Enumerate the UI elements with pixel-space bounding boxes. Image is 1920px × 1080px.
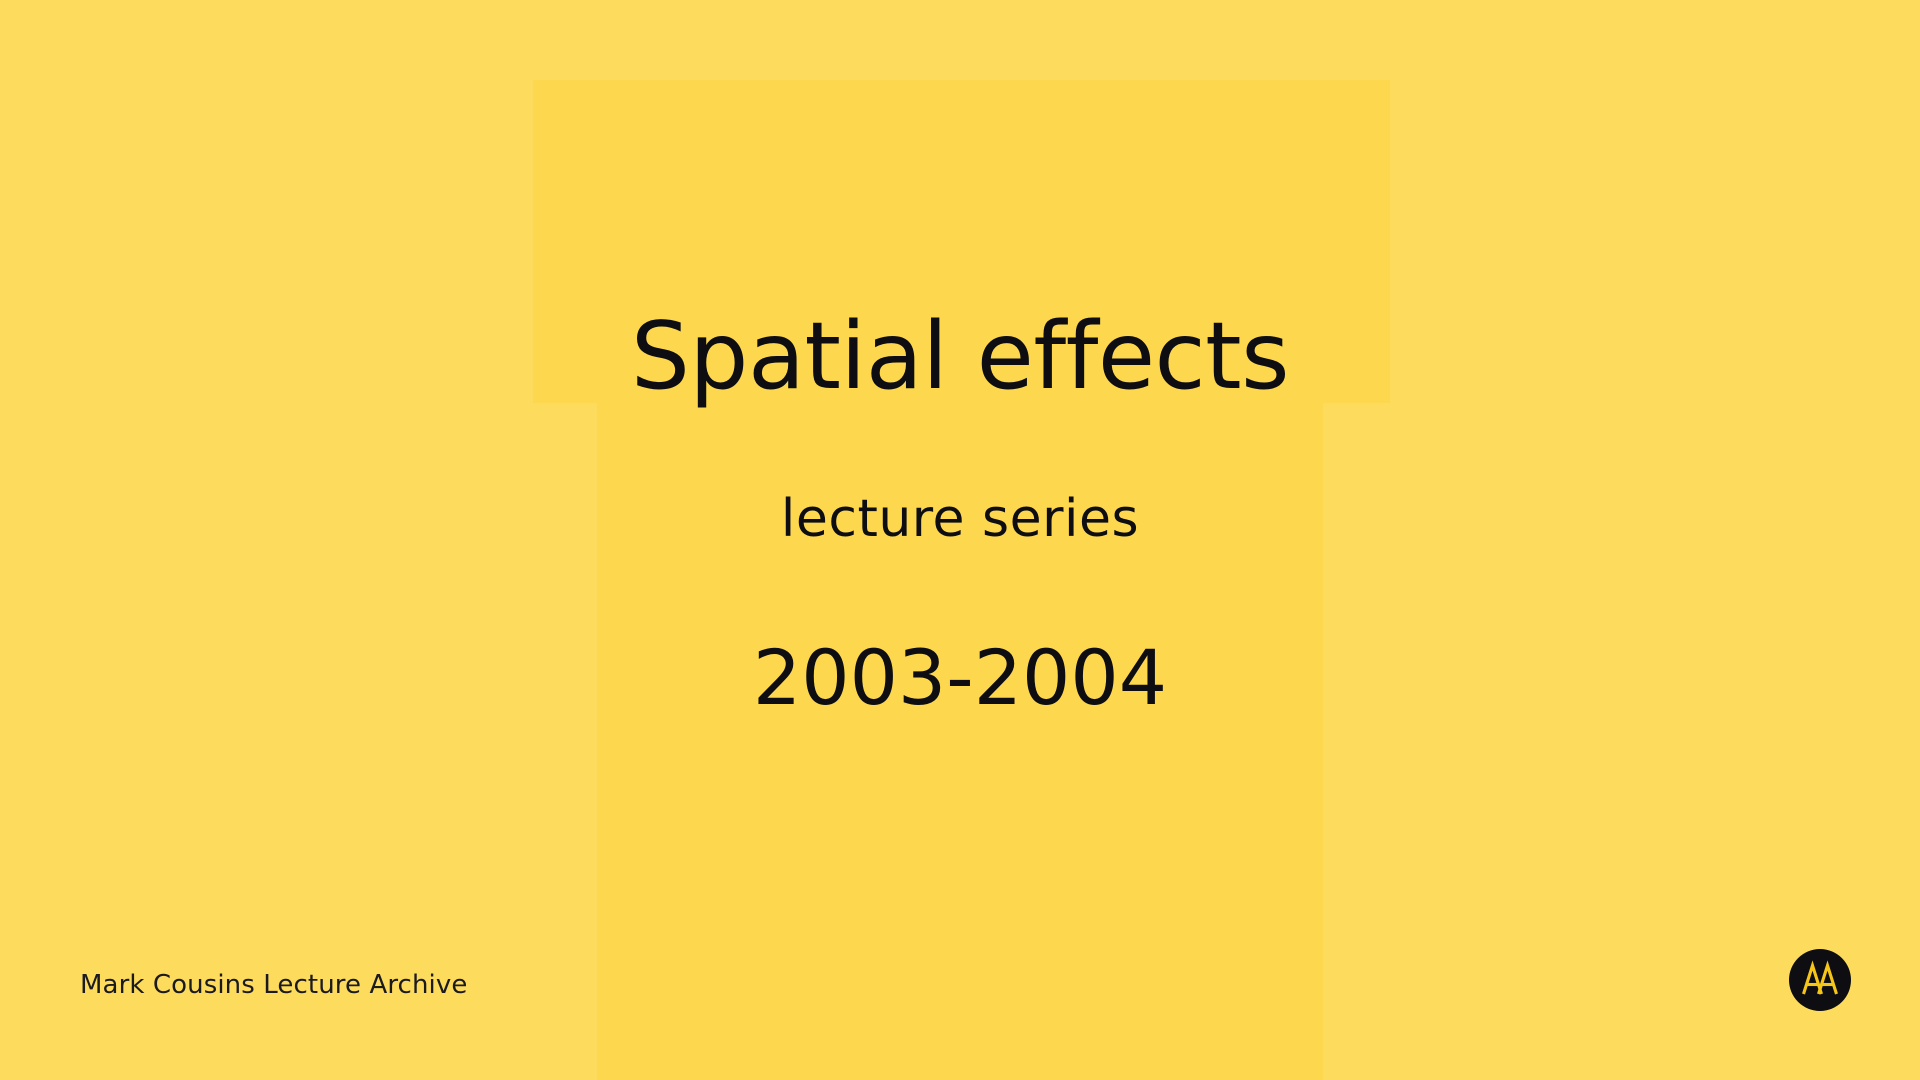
archive-credit-label: Mark Cousins Lecture Archive <box>80 970 467 1000</box>
slide-year: 2003-2004 <box>0 636 1920 720</box>
slide-subtitle: lecture series <box>0 491 1920 548</box>
slide-text-block: Spatial effects lecture series 2003-2004 <box>0 0 1920 1080</box>
aa-logo-icon <box>1789 949 1851 1011</box>
slide-title: Spatial effects <box>0 308 1920 406</box>
aa-logo <box>1789 949 1851 1011</box>
presentation-slide: Spatial effects lecture series 2003-2004… <box>0 0 1920 1080</box>
